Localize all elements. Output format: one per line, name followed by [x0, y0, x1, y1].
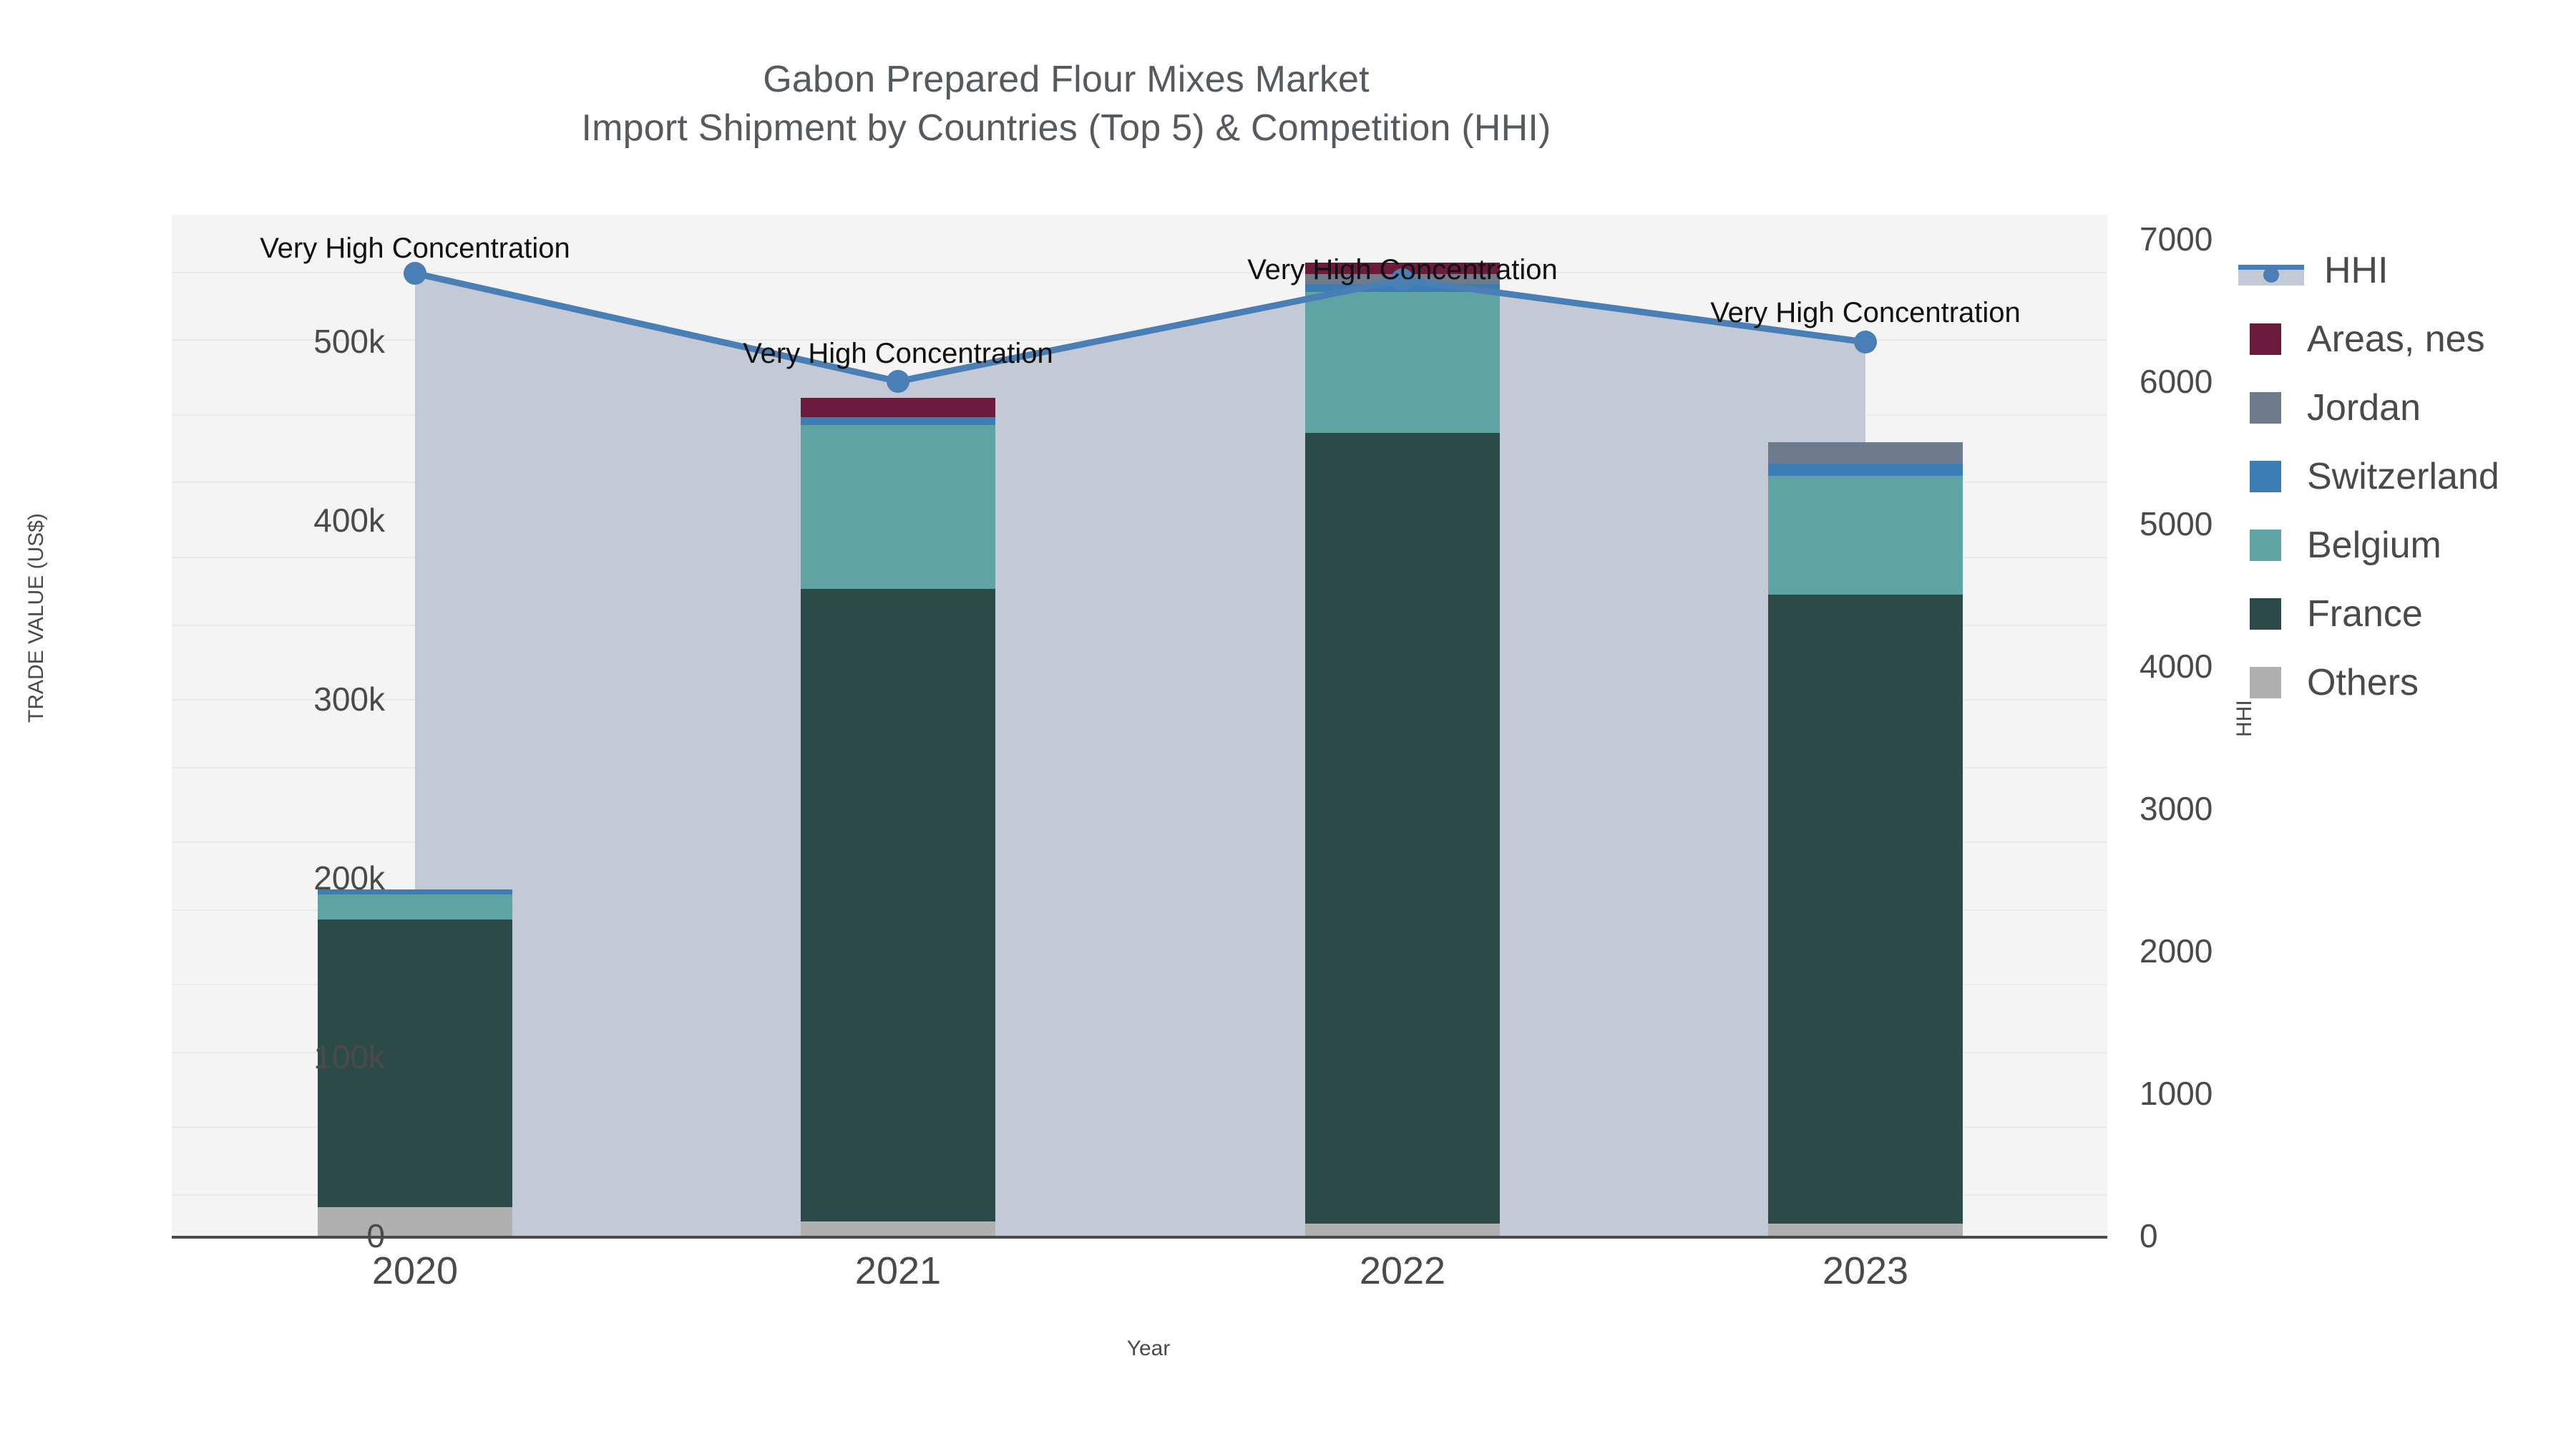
annotation-2022: Very High Concentration	[1247, 254, 1558, 286]
y-tick-left-300k: 300k	[313, 680, 385, 718]
legend-swatch-icon	[2250, 323, 2281, 355]
legend-item-switzerland[interactable]: Switzerland	[2238, 442, 2499, 511]
chart-root: Gabon Prepared Flour Mixes Market Import…	[0, 0, 2576, 1449]
hhi-line[interactable]	[172, 215, 2107, 1236]
legend-label-belgium: Belgium	[2307, 524, 2441, 567]
legend-swatch-icon	[2250, 598, 2281, 630]
y-tick-right-6000: 6000	[2140, 362, 2212, 401]
y-tick-right-7000: 7000	[2140, 220, 2212, 258]
annotation-2023: Very High Concentration	[1710, 297, 2021, 329]
annotation-2021: Very High Concentration	[743, 338, 1053, 370]
legend-item-others[interactable]: Others	[2238, 648, 2499, 717]
y-tick-right-2000: 2000	[2140, 932, 2212, 970]
legend-item-jordan[interactable]: Jordan	[2238, 374, 2499, 442]
y-tick-left-500k: 500k	[313, 322, 385, 361]
x-tick-2022: 2022	[1360, 1249, 1445, 1293]
y-tick-right-4000: 4000	[2140, 647, 2212, 686]
legend-label-hhi: HHI	[2324, 249, 2389, 292]
y-tick-left-400k: 400k	[313, 501, 385, 540]
legend-swatch-icon	[2250, 392, 2281, 424]
hhi-line-icon	[2238, 255, 2304, 286]
legend-label-switzerland: Switzerland	[2307, 455, 2499, 498]
legend-label-others: Others	[2307, 661, 2419, 704]
legend: HHI Areas, nes Jordan Switzerland Belgiu…	[2238, 236, 2499, 717]
x-tick-2020: 2020	[372, 1249, 458, 1293]
plot-area	[172, 215, 2107, 1236]
hhi-marker-2021	[887, 370, 909, 393]
legend-item-france[interactable]: France	[2238, 580, 2499, 648]
legend-item-hhi[interactable]: HHI	[2238, 236, 2499, 305]
legend-swatch-icon	[2250, 530, 2281, 561]
y-tick-right-0: 0	[2140, 1216, 2158, 1255]
legend-label-jordan: Jordan	[2307, 386, 2421, 429]
chart-title-line-1: Gabon Prepared Flour Mixes Market	[0, 56, 2132, 104]
legend-item-areas-nes[interactable]: Areas, nes	[2238, 305, 2499, 374]
x-tick-2023: 2023	[1823, 1249, 1908, 1293]
hhi-marker-2023	[1854, 331, 1877, 353]
hhi-marker-2020	[404, 262, 426, 285]
y-tick-right-3000: 3000	[2140, 789, 2212, 828]
annotation-2020: Very High Concentration	[260, 233, 570, 265]
x-tick-2021: 2021	[855, 1249, 941, 1293]
x-axis-baseline	[172, 1236, 2107, 1239]
chart-title-line-2: Import Shipment by Countries (Top 5) & C…	[0, 104, 2132, 153]
legend-label-areas-nes: Areas, nes	[2307, 318, 2485, 361]
legend-label-france: France	[2307, 592, 2423, 635]
legend-swatch-icon	[2250, 461, 2281, 492]
legend-swatch-icon	[2250, 667, 2281, 698]
legend-item-belgium[interactable]: Belgium	[2238, 511, 2499, 580]
y-tick-right-5000: 5000	[2140, 504, 2212, 543]
chart-title: Gabon Prepared Flour Mixes Market Import…	[0, 56, 2132, 152]
y-tick-left-100k: 100k	[313, 1038, 385, 1076]
x-axis-title: Year	[0, 1337, 2297, 1361]
y-tick-right-1000: 1000	[2140, 1074, 2212, 1113]
y-tick-left-200k: 200k	[313, 859, 385, 897]
y-axis-left-title: TRADE VALUE (US$)	[24, 513, 49, 723]
